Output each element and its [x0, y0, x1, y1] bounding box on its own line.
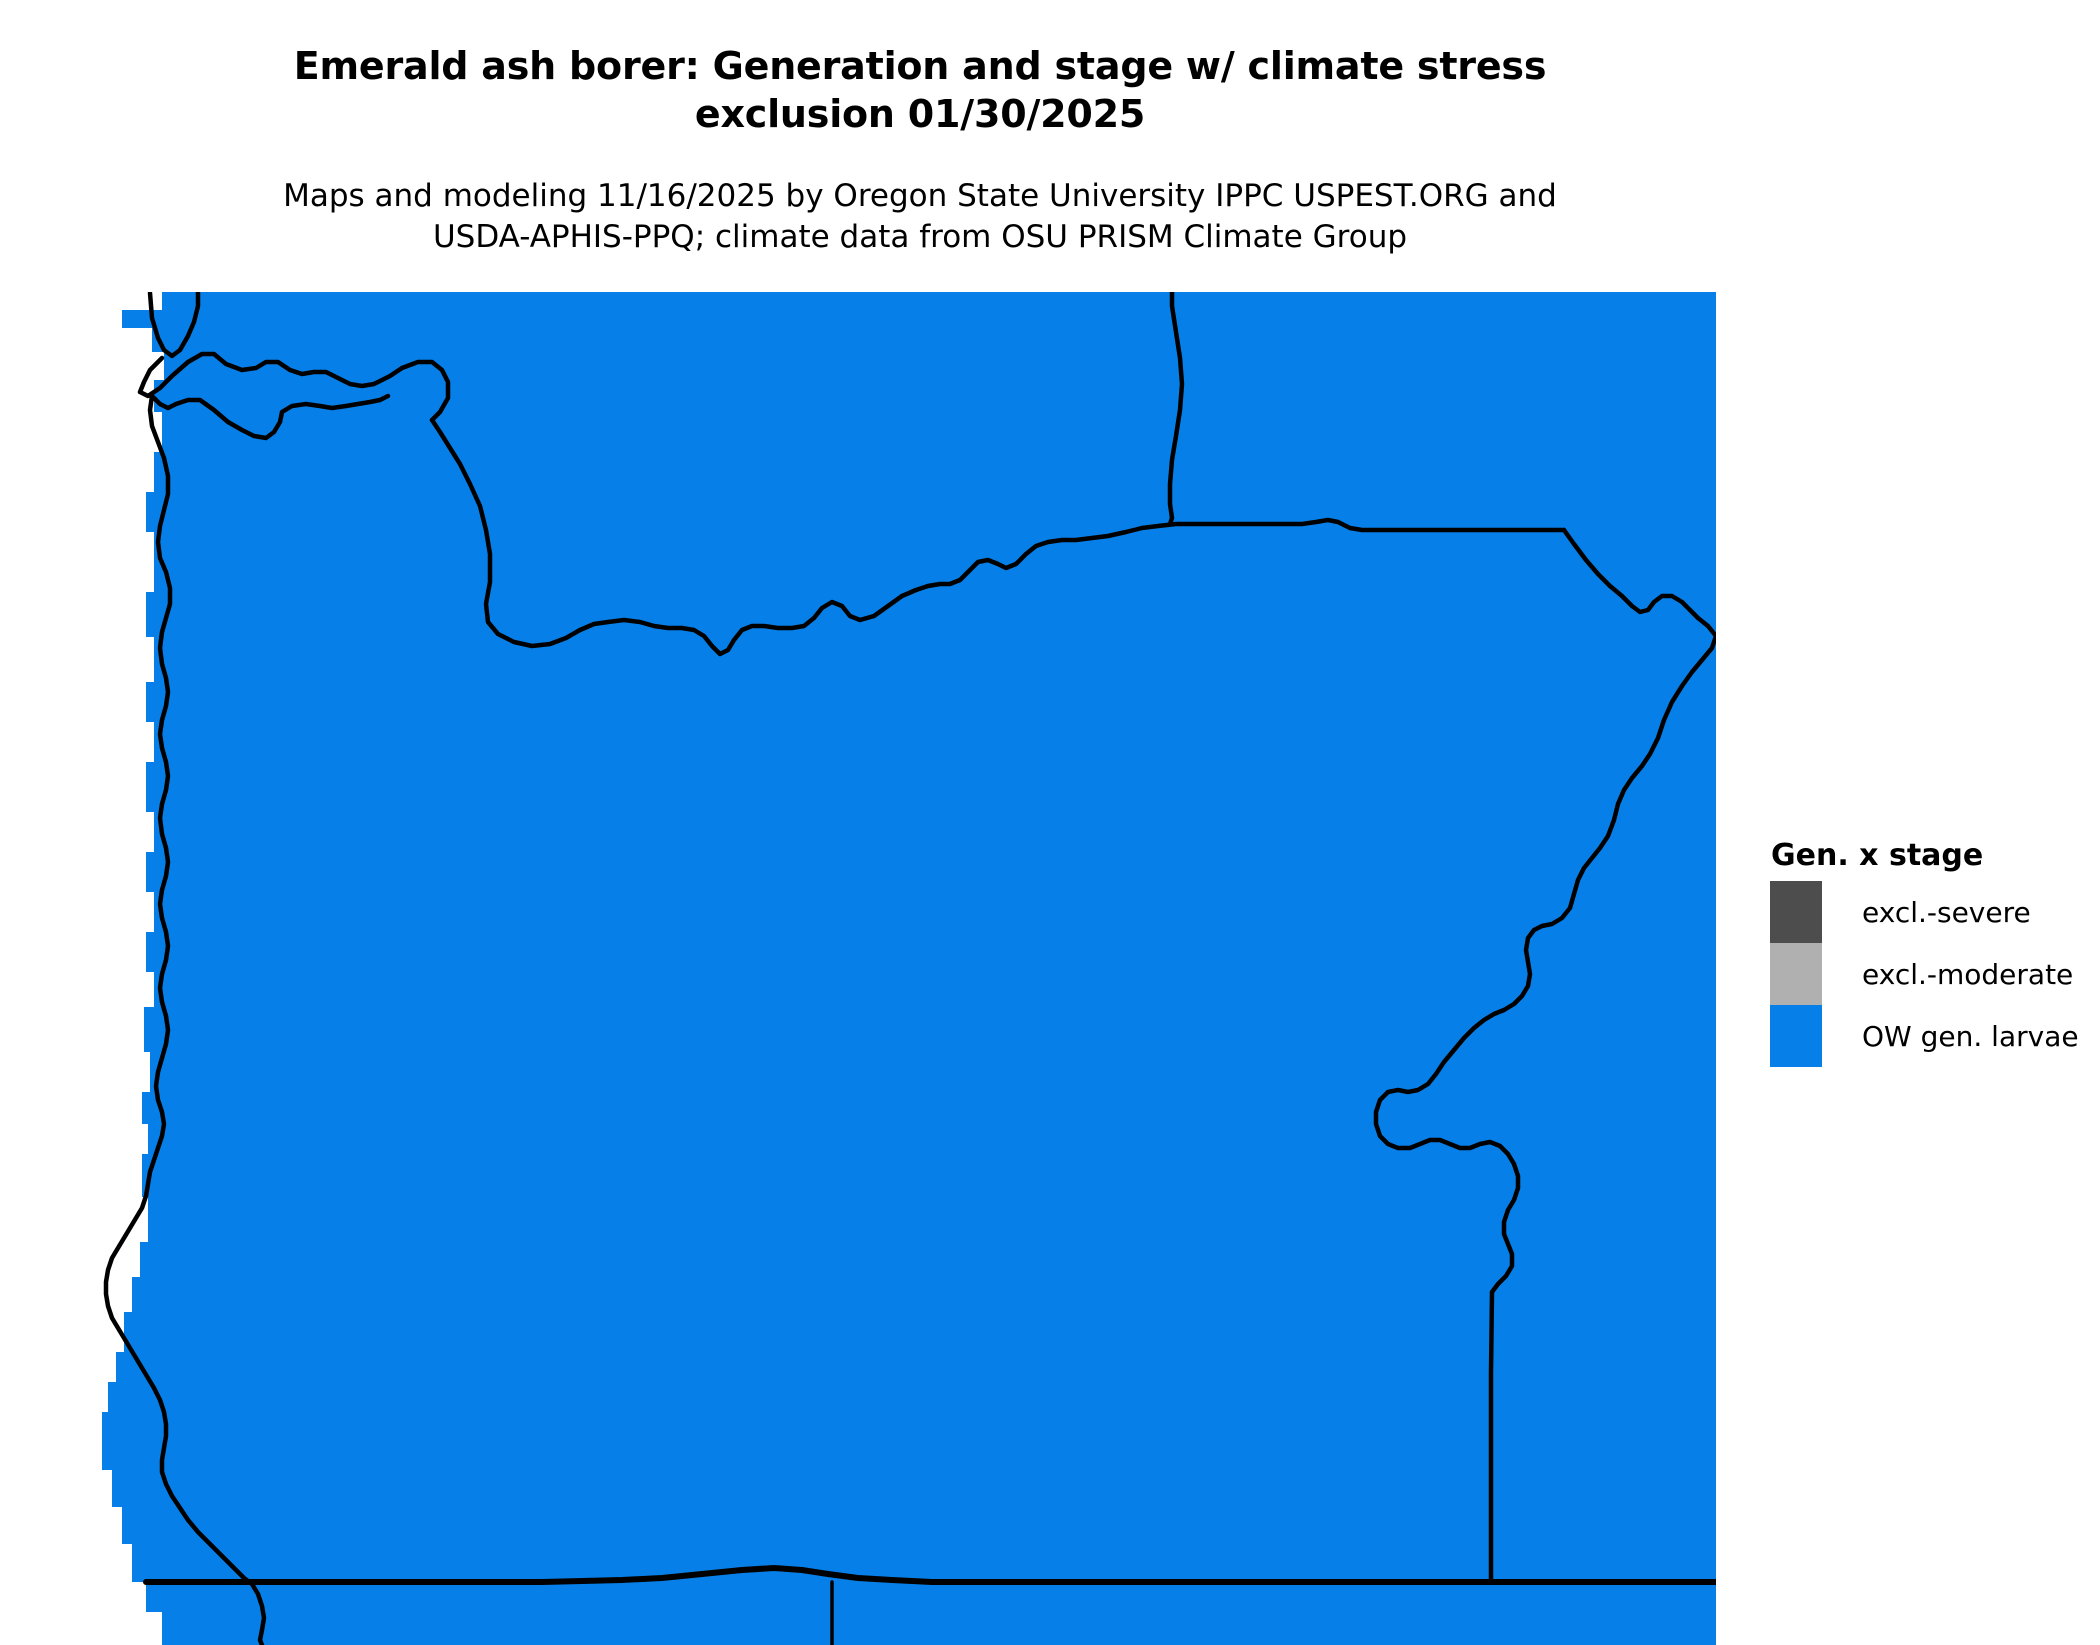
oregon-map-svg: [102, 292, 1716, 1645]
raster-class-layer: [102, 292, 1716, 1645]
page-title: Emerald ash borer: Generation and stage …: [0, 42, 1840, 139]
boundary-east-meridian: [1491, 1292, 1492, 1582]
raster-cell-ow-gen-larvae: [102, 292, 1716, 1645]
legend-item-ow-gen-larvae[interactable]: OW gen. larvae: [1770, 1005, 2090, 1067]
page-subtitle: Maps and modeling 11/16/2025 by Oregon S…: [0, 176, 1840, 258]
legend-label-ow-gen-larvae: OW gen. larvae: [1862, 1020, 2079, 1053]
map-panel[interactable]: [102, 292, 1716, 1645]
legend-item-excl-moderate[interactable]: excl.-moderate: [1770, 943, 2090, 1005]
legend-swatch-ow-gen-larvae: [1770, 1005, 1822, 1067]
legend-title: Gen. x stage: [1771, 838, 2090, 873]
title-block: Emerald ash borer: Generation and stage …: [0, 42, 1840, 139]
legend-label-excl-moderate: excl.-moderate: [1862, 958, 2073, 991]
legend-swatch-excl-severe: [1770, 881, 1822, 943]
legend-item-excl-severe[interactable]: excl.-severe: [1770, 881, 2090, 943]
legend-label-excl-severe: excl.-severe: [1862, 896, 2031, 929]
legend: Gen. x stage excl.-severe excl.-moderate…: [1770, 838, 2090, 1067]
legend-swatch-excl-moderate: [1770, 943, 1822, 1005]
map-page: Emerald ash borer: Generation and stage …: [0, 0, 2100, 1645]
